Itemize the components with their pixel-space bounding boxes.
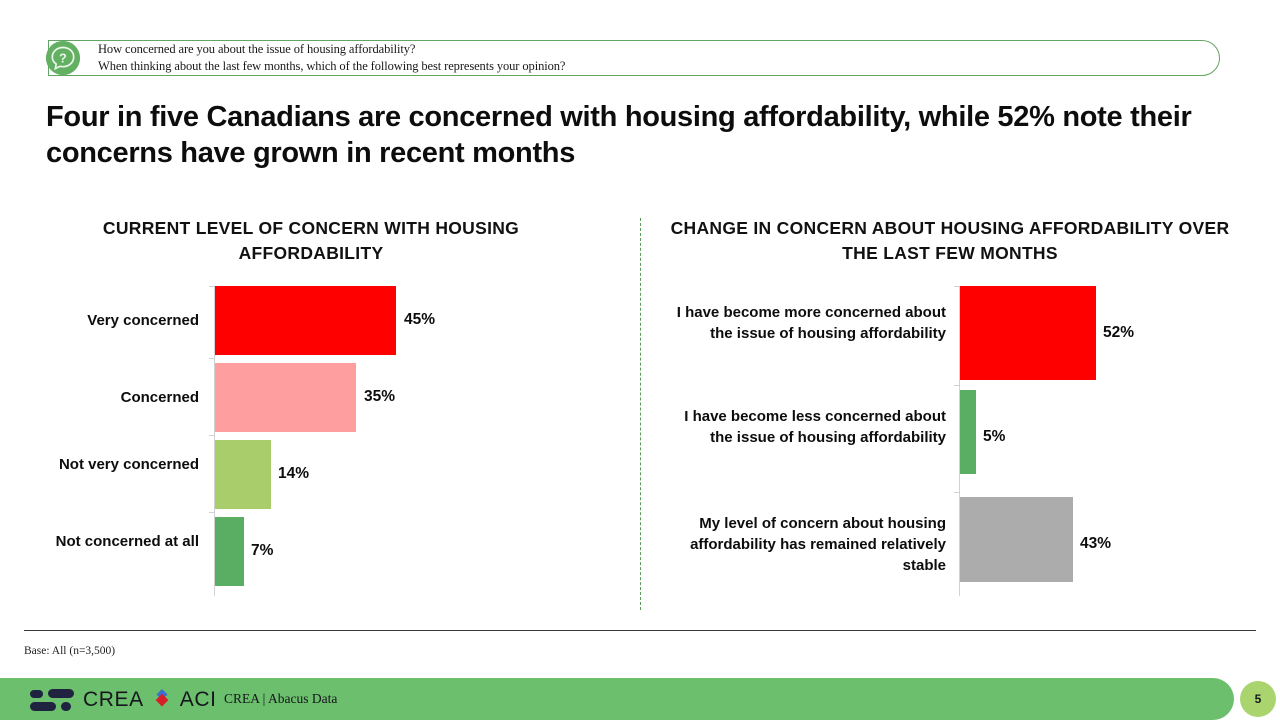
chart-title-change-in-concern: CHANGE IN CONCERN ABOUT HOUSING AFFORDAB… <box>670 216 1230 266</box>
bar-become-more-concerned <box>960 286 1096 380</box>
bar-category-label: Concerned <box>0 387 199 408</box>
bar-value-label: 5% <box>983 428 1005 446</box>
chart-row: I have become less concerned about the i… <box>959 390 1239 486</box>
base-note: Base: All (n=3,500) <box>24 645 115 657</box>
question-line-2: When thinking about the last few months,… <box>98 58 565 75</box>
bar-become-less-concerned <box>960 390 976 474</box>
page-number-badge: 5 <box>1240 681 1276 717</box>
bar-concerned <box>215 363 356 432</box>
question-line-1: How concerned are you about the issue of… <box>98 41 565 58</box>
bar-value-label: 45% <box>404 311 435 329</box>
question-text: How concerned are you about the issue of… <box>98 41 565 74</box>
chart-row: Very concerned 45% <box>214 286 614 358</box>
bar-remained-stable <box>960 497 1073 582</box>
chart-current-level-of-concern: Very concerned 45% Concerned 35% Not ver… <box>214 286 614 596</box>
page-title: Four in five Canadians are concerned wit… <box>46 99 1206 171</box>
axis-tick <box>209 358 214 359</box>
bar-category-label: I have become less concerned about the i… <box>674 406 946 448</box>
bar-value-label: 52% <box>1103 324 1134 342</box>
panel-divider <box>640 218 641 610</box>
chart-change-in-concern: I have become more concerned about the i… <box>959 286 1239 596</box>
axis-tick <box>209 435 214 436</box>
question-speech-bubble-icon: ? <box>46 41 80 75</box>
axis-tick <box>954 286 959 287</box>
bar-value-label: 14% <box>278 465 309 483</box>
axis-tick <box>209 512 214 513</box>
chart-row: Not very concerned 14% <box>214 440 614 512</box>
axis-tick <box>954 385 959 386</box>
crea-diamond-icon <box>151 689 173 711</box>
chart-row: My level of concern about housing afford… <box>959 497 1239 593</box>
bar-category-label: I have become more concerned about the i… <box>674 302 946 344</box>
crea-aci-wordmark: CREA ACI <box>83 688 217 712</box>
axis-tick <box>954 492 959 493</box>
bar-category-label: Very concerned <box>0 310 199 331</box>
axis-tick <box>209 286 214 287</box>
chart-row: I have become more concerned about the i… <box>959 286 1239 382</box>
bar-category-label: My level of concern about housing afford… <box>674 513 946 576</box>
bar-value-label: 43% <box>1080 535 1111 553</box>
bar-value-label: 35% <box>364 388 395 406</box>
crea-logo-mark-icon <box>30 688 74 717</box>
bar-value-label: 7% <box>251 542 273 560</box>
logo-word-aci: ACI <box>180 688 217 712</box>
logo-word-crea: CREA <box>83 688 144 712</box>
chart-row: Concerned 35% <box>214 363 614 435</box>
bar-category-label: Not very concerned <box>0 454 199 475</box>
bar-very-concerned <box>215 286 396 355</box>
svg-text:?: ? <box>59 52 67 66</box>
bar-category-label: Not concerned at all <box>0 531 199 552</box>
bar-not-concerned-at-all <box>215 517 244 586</box>
bar-not-very-concerned <box>215 440 271 509</box>
chart-title-current-level-of-concern: CURRENT LEVEL OF CONCERN WITH HOUSING AF… <box>46 216 576 266</box>
chart-row: Not concerned at all 7% <box>214 517 614 589</box>
footer-source-text: CREA | Abacus Data <box>224 691 337 707</box>
footer-divider <box>24 630 1256 631</box>
